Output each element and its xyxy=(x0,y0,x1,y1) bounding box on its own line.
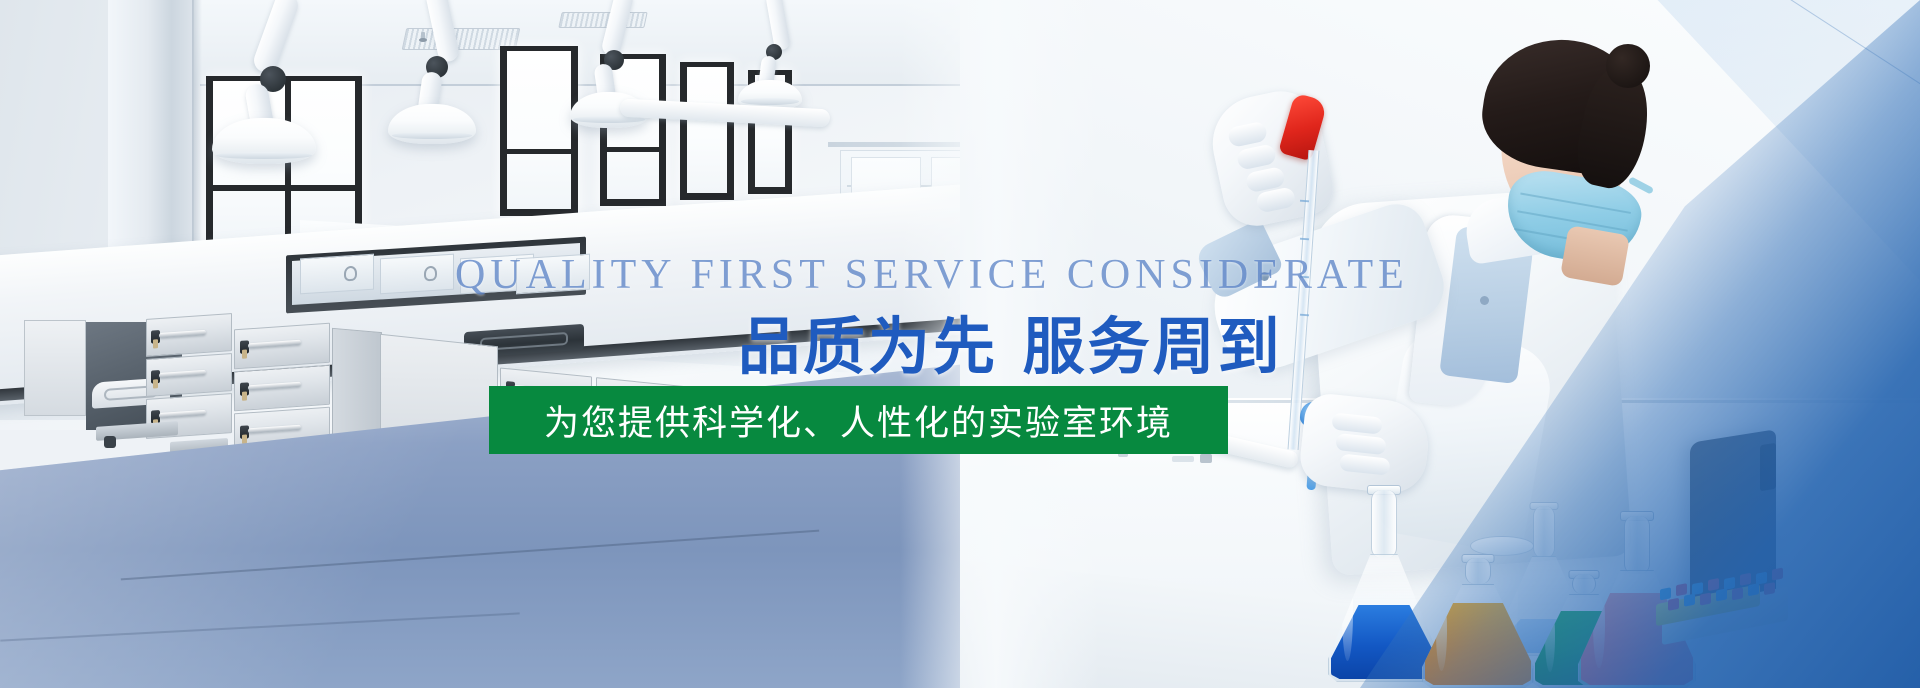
drawer-handle xyxy=(159,369,206,377)
glove-finger xyxy=(1339,454,1391,476)
cabinet-foot xyxy=(104,436,116,448)
tagline-english: QUALITY FIRST SERVICE CONSIDERATE xyxy=(455,251,1409,299)
drawer-lock-icon xyxy=(240,383,249,397)
hero-banner: QUALITY FIRST SERVICE CONSIDERATE 品质为先 服… xyxy=(0,0,1920,688)
arm-segment-upper xyxy=(765,0,791,51)
drawer-handle xyxy=(248,382,301,391)
service-tap-icon xyxy=(424,266,437,282)
fume-extraction-arm-1 xyxy=(186,0,326,190)
glove-finger xyxy=(1236,143,1277,170)
glove-finger xyxy=(1331,412,1383,434)
flask-neck xyxy=(1371,490,1397,558)
drawer-lock-icon xyxy=(240,341,249,355)
headline-chinese: 品质为先 服务周到 xyxy=(738,296,1283,386)
service-panel xyxy=(380,254,454,295)
cabinet-drawer xyxy=(146,313,232,357)
cabinet-drawer xyxy=(146,353,232,397)
under-bench-cabinet-open xyxy=(24,320,86,416)
mask-pleat xyxy=(1520,192,1631,214)
fume-hood-bell xyxy=(212,118,316,164)
cabinet-drawer xyxy=(234,365,330,412)
arm-segment-upper xyxy=(600,0,634,57)
drawer-handle xyxy=(248,425,301,434)
drawer-handle xyxy=(159,410,206,418)
fume-extraction-arm-4 xyxy=(726,0,826,150)
drawer-handle xyxy=(159,329,206,337)
service-tap-icon xyxy=(344,266,357,282)
glove-finger xyxy=(1227,121,1268,148)
fume-extraction-arm-2 xyxy=(370,0,500,180)
shirt-button-icon xyxy=(1480,296,1489,305)
drawer-handle xyxy=(248,340,301,349)
fume-extraction-arm-3 xyxy=(556,0,676,164)
arm-segment-upper xyxy=(251,0,302,76)
hair-bun xyxy=(1606,44,1650,88)
cabinet-drawer xyxy=(234,323,330,370)
arm-segment-upper xyxy=(425,0,461,63)
subtitle-text: 为您提供科学化、人性化的实验室环境 xyxy=(544,395,1173,446)
glove-finger xyxy=(1335,433,1387,455)
fume-hood-bell xyxy=(388,104,476,144)
subtitle-green-band: 为您提供科学化、人性化的实验室环境 xyxy=(489,386,1228,454)
service-panel xyxy=(300,254,374,295)
